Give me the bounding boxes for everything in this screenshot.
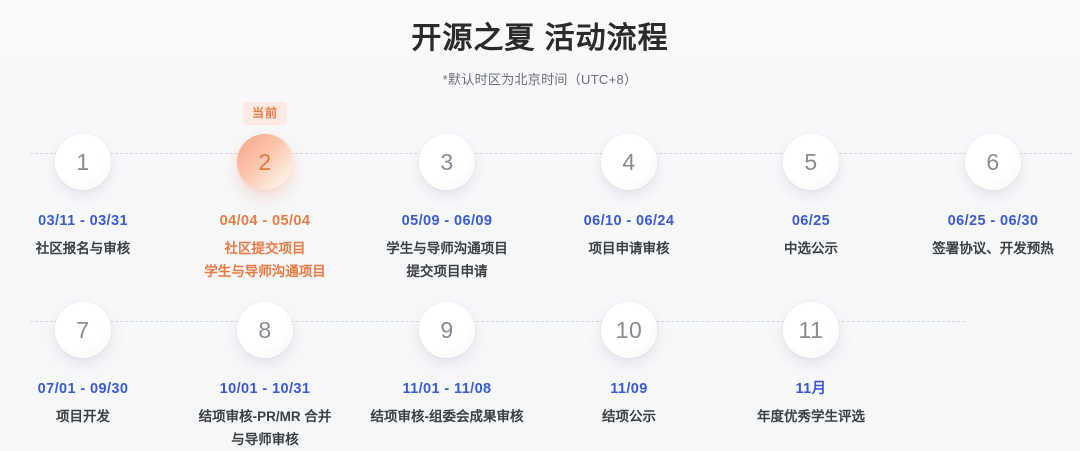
step-circle-wrap: 10 [538,302,720,364]
step-date: 06/25 [720,210,902,232]
page-title: 开源之夏 活动流程 [0,18,1080,60]
step-circle-wrap: 5 [720,134,902,196]
timeline-step-10[interactable]: 1011/09结项公示 [538,280,720,451]
step-labels: 11月年度优秀学生评选 [720,378,902,428]
page-header: 开源之夏 活动流程 *默认时区为北京时间（UTC+8） [0,0,1080,90]
badge-slot [0,112,174,134]
step-description-line: 中选公示 [720,237,902,260]
step-description-line: 结项公示 [538,405,720,428]
step-labels: 07/01 - 09/30项目开发 [0,378,174,428]
step-description-line: 项目开发 [0,405,174,428]
step-number-circle[interactable]: 5 [783,134,839,190]
timeline-row-2: 707/01 - 09/30项目开发810/01 - 10/31结项审核-PR/… [0,280,1080,451]
badge-slot [538,112,720,134]
timeline-steps-row-2: 707/01 - 09/30项目开发810/01 - 10/31结项审核-PR/… [0,280,1072,451]
badge-slot [720,112,902,134]
step-labels: 11/01 - 11/08结项审核-组委会成果审核 [356,378,538,428]
badge-slot [356,112,538,134]
step-number-circle[interactable]: 11 [783,302,839,358]
step-number-circle[interactable]: 8 [237,302,293,358]
step-labels: 06/25中选公示 [720,210,902,260]
timeline-step-11[interactable]: 1111月年度优秀学生评选 [720,280,902,451]
step-description: 社区提交项目学生与导师沟通项目 [174,237,356,283]
step-description-line: 项目申请审核 [538,237,720,260]
timeline-step-9[interactable]: 911/01 - 11/08结项审核-组委会成果审核 [356,280,538,451]
step-description: 结项审核-组委会成果审核 [356,405,538,428]
step-circle-wrap: 3 [356,134,538,196]
timeline-step-5[interactable]: 506/25中选公示 [720,112,902,283]
step-description: 结项审核-PR/MR 合并与导师审核 [174,405,356,451]
timeline-step-3[interactable]: 305/09 - 06/09学生与导师沟通项目提交项目申请 [356,112,538,283]
step-date: 11/01 - 11/08 [356,378,538,400]
step-description-line: 签署协议、开发预热 [902,237,1080,260]
step-description: 签署协议、开发预热 [902,237,1080,260]
step-circle-wrap: 4 [538,134,720,196]
step-labels: 06/10 - 06/24项目申请审核 [538,210,720,260]
step-date: 06/25 - 06/30 [902,210,1080,232]
step-number-circle[interactable]: 7 [55,302,111,358]
step-circle-wrap: 6 [902,134,1080,196]
badge-slot [174,280,356,302]
badge-slot [902,112,1080,134]
step-description-line: 结项审核-组委会成果审核 [356,405,538,428]
step-description-line: 学生与导师沟通项目 [356,237,538,260]
step-circle-wrap: 1 [0,134,174,196]
timeline-step-7[interactable]: 707/01 - 09/30项目开发 [0,280,174,451]
step-labels: 06/25 - 06/30签署协议、开发预热 [902,210,1080,260]
step-description: 项目开发 [0,405,174,428]
timeline-page: 开源之夏 活动流程 *默认时区为北京时间（UTC+8） 103/11 - 03/… [0,0,1080,450]
timeline-row-1: 103/11 - 03/31社区报名与审核当前204/04 - 05/04社区提… [0,112,1080,283]
step-circle-wrap: 2 [174,134,356,196]
current-step-badge: 当前 [243,102,287,125]
step-description-line: 年度优秀学生评选 [720,405,902,428]
badge-slot: 当前 [174,112,356,134]
step-labels: 05/09 - 06/09学生与导师沟通项目提交项目申请 [356,210,538,283]
step-number-circle[interactable]: 6 [965,134,1021,190]
timeline-step-2[interactable]: 当前204/04 - 05/04社区提交项目学生与导师沟通项目 [174,112,356,283]
timeline-steps-row-1: 103/11 - 03/31社区报名与审核当前204/04 - 05/04社区提… [0,112,1072,283]
badge-slot [356,280,538,302]
step-date: 04/04 - 05/04 [174,210,356,232]
step-date: 07/01 - 09/30 [0,378,174,400]
step-circle-wrap: 7 [0,302,174,364]
step-date: 06/10 - 06/24 [538,210,720,232]
timeline-step-1[interactable]: 103/11 - 03/31社区报名与审核 [0,112,174,283]
step-number-circle[interactable]: 9 [419,302,475,358]
step-labels: 11/09结项公示 [538,378,720,428]
step-number-circle[interactable]: 1 [55,134,111,190]
step-circle-wrap: 9 [356,302,538,364]
timeline-step-6[interactable]: 606/25 - 06/30签署协议、开发预热 [902,112,1080,283]
step-description: 年度优秀学生评选 [720,405,902,428]
timeline-step-8[interactable]: 810/01 - 10/31结项审核-PR/MR 合并与导师审核 [174,280,356,451]
step-date: 11/09 [538,378,720,400]
step-date: 11月 [720,378,902,400]
step-description-line: 社区提交项目 [174,237,356,260]
step-number-circle[interactable]: 2 [237,134,293,190]
badge-slot [0,280,174,302]
step-description-line: 社区报名与审核 [0,237,174,260]
step-number-circle[interactable]: 10 [601,302,657,358]
badge-slot [720,280,902,302]
step-date: 10/01 - 10/31 [174,378,356,400]
step-description: 中选公示 [720,237,902,260]
step-description: 学生与导师沟通项目提交项目申请 [356,237,538,283]
step-labels: 04/04 - 05/04社区提交项目学生与导师沟通项目 [174,210,356,283]
step-description-line: 结项审核-PR/MR 合并 [174,405,356,428]
page-subtitle: *默认时区为北京时间（UTC+8） [0,70,1080,90]
step-number-circle[interactable]: 3 [419,134,475,190]
step-description: 社区报名与审核 [0,237,174,260]
badge-slot [538,280,720,302]
step-description: 结项公示 [538,405,720,428]
step-labels: 03/11 - 03/31社区报名与审核 [0,210,174,260]
step-labels: 10/01 - 10/31结项审核-PR/MR 合并与导师审核 [174,378,356,451]
step-circle-wrap: 11 [720,302,902,364]
step-description-line: 与导师审核 [174,428,356,451]
step-circle-wrap: 8 [174,302,356,364]
timeline-step-4[interactable]: 406/10 - 06/24项目申请审核 [538,112,720,283]
step-date: 05/09 - 06/09 [356,210,538,232]
step-description: 项目申请审核 [538,237,720,260]
step-number-circle[interactable]: 4 [601,134,657,190]
step-date: 03/11 - 03/31 [0,210,174,232]
